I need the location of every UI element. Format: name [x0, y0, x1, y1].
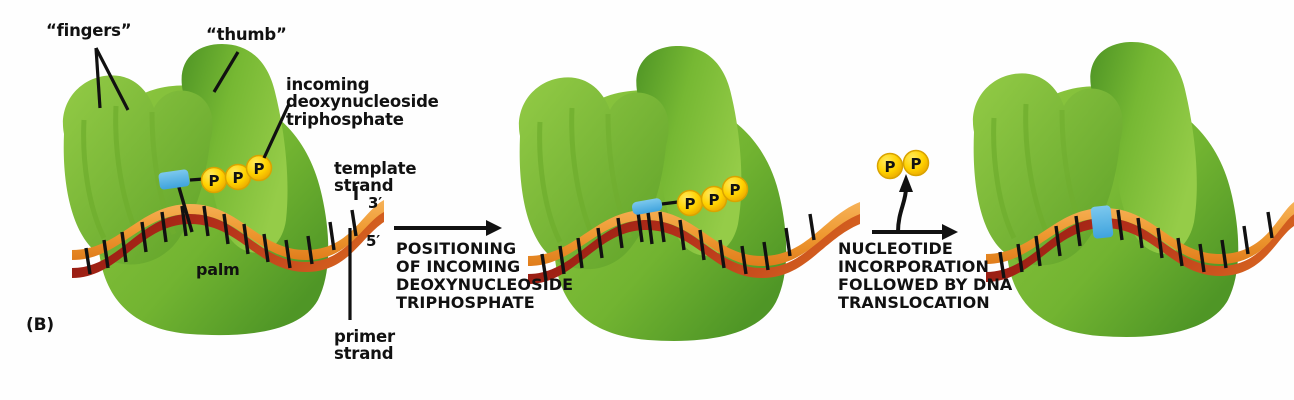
reaction-arrow-2: P P	[872, 151, 958, 241]
label-three-prime: 3′	[368, 196, 382, 212]
svg-text:P: P	[233, 169, 244, 187]
svg-text:P: P	[730, 181, 741, 199]
svg-text:P: P	[709, 191, 720, 209]
incorporated-base-icon	[1090, 205, 1113, 239]
label-template-strand: template strand	[334, 160, 416, 195]
label-thumb: “thumb”	[206, 26, 287, 43]
svg-text:P: P	[911, 155, 922, 173]
label-five-prime: 5′	[366, 234, 380, 250]
svg-text:P: P	[209, 172, 220, 190]
label-fingers: “fingers”	[46, 22, 131, 39]
label-incoming-dntp: incoming deoxynucleoside triphosphate	[286, 76, 439, 128]
svg-text:P: P	[254, 160, 265, 178]
label-primer-strand: primer strand	[334, 328, 395, 363]
panel-open-incorporated	[973, 42, 1294, 337]
label-palm: palm	[196, 262, 240, 279]
svg-text:P: P	[885, 158, 896, 176]
step-2-caption: NUCLEOTIDE INCORPORATION FOLLOWED BY DNA…	[838, 240, 1012, 312]
panel-label: (B)	[26, 316, 54, 334]
svg-text:P: P	[685, 195, 696, 213]
dna-polymerase-diagram: P P P	[0, 0, 1294, 400]
released-pyrophosphate: P P	[878, 151, 929, 179]
reaction-arrow-1	[394, 220, 502, 236]
step-1-caption: POSITIONING OF INCOMING DEOXYNUCLEOSIDE …	[396, 240, 573, 312]
figure-canvas: P P P	[0, 0, 1294, 400]
base-phosphate-bond-2	[662, 202, 678, 204]
